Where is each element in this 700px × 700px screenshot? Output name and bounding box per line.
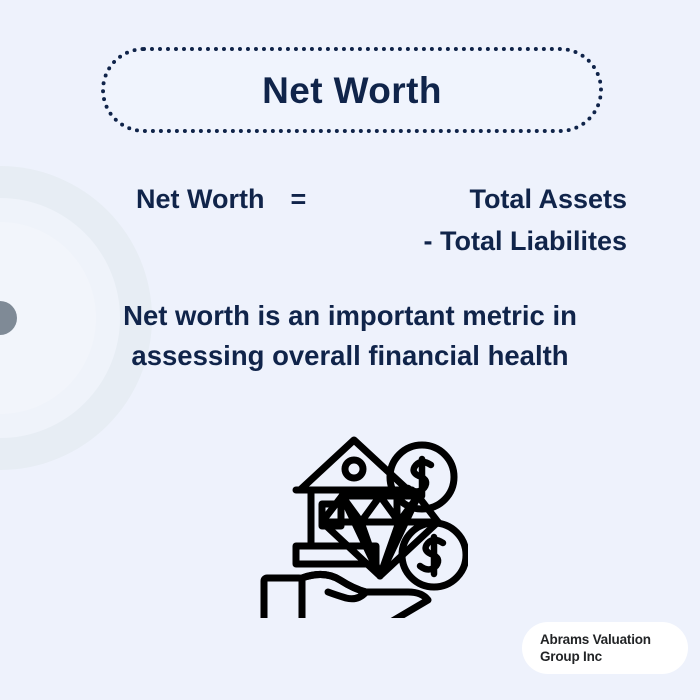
formula-row-second: - Total Liabilites xyxy=(0,220,700,262)
title-pill: Net Worth xyxy=(101,47,603,133)
description-line-2: assessing overall financial health xyxy=(50,336,650,376)
formula-term: Net Worth xyxy=(136,178,265,220)
logo-badge: Abrams Valuation Group Inc xyxy=(522,622,688,674)
formula-operator: = xyxy=(291,178,307,220)
formula-total-assets: Total Assets xyxy=(345,178,700,220)
formula-block: Net Worth = Total Assets - Total Liabili… xyxy=(0,178,700,262)
formula-left-side: Net Worth = xyxy=(0,178,345,220)
description-line-1: Net worth is an important metric in xyxy=(50,296,650,336)
deco-dot xyxy=(0,301,17,335)
formula-total-liabilities: - Total Liabilites xyxy=(345,220,700,262)
page-title: Net Worth xyxy=(262,72,442,109)
formula-row-first: Net Worth = Total Assets xyxy=(0,178,700,220)
diamond-facet-left xyxy=(342,496,380,522)
infographic-canvas: Net Worth Net Worth = Total Assets - Tot… xyxy=(0,0,700,700)
logo-line-2: Group Inc xyxy=(540,648,688,665)
house-round-window xyxy=(345,460,363,478)
logo-line-1: Abrams Valuation xyxy=(540,631,688,648)
hand-wrist xyxy=(264,578,302,618)
description-block: Net worth is an important metric in asse… xyxy=(50,296,650,376)
hand-holding-house-diamond-coins-icon xyxy=(258,428,468,618)
